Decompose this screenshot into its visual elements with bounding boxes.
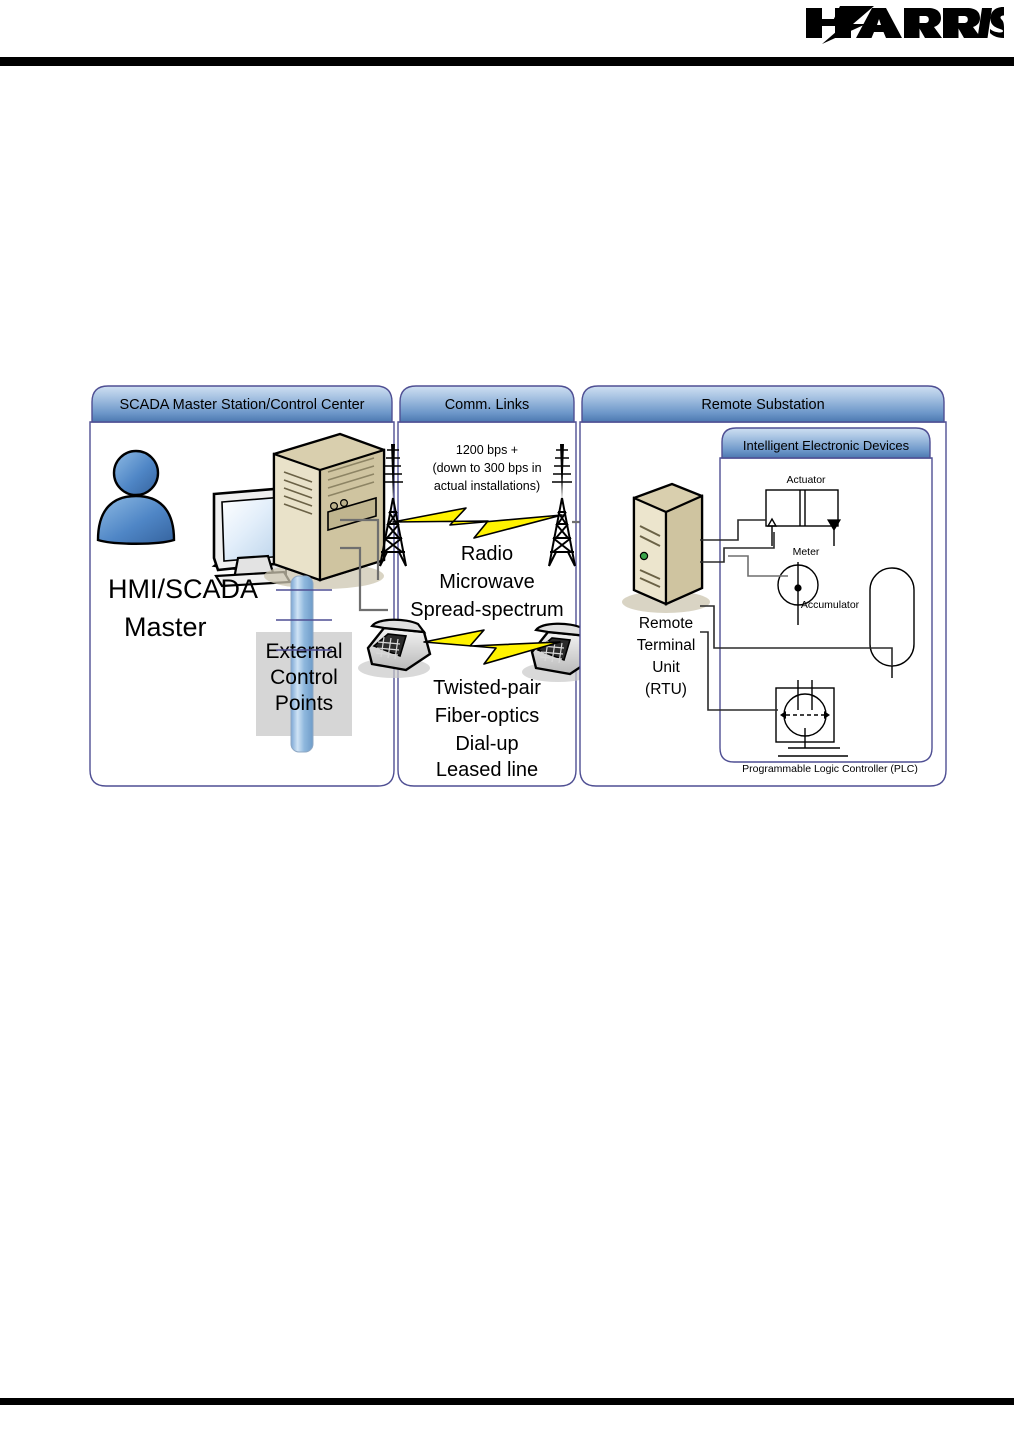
subpanel-ied-header: Intelligent Electronic Devices xyxy=(743,438,910,453)
rtu-label-line-2: Terminal xyxy=(637,637,696,654)
panel-comm-links-header: Comm. Links xyxy=(445,397,530,413)
wireline-label-line-2: Fiber-optics xyxy=(435,705,539,727)
comm-rate-note-line-1: 1200 bps + xyxy=(456,443,518,457)
rtu-label-line-1: Remote xyxy=(639,615,693,632)
plc-label: Programmable Logic Controller (PLC) xyxy=(742,763,918,775)
wireline-label-line-3: Dial-up xyxy=(455,733,518,755)
comm-rate-note-line-2: (down to 300 bps in xyxy=(432,461,541,475)
svg-text:®: ® xyxy=(996,9,1002,17)
external-control-points-line-2: Control xyxy=(270,666,338,689)
accumulator-label: Accumulator xyxy=(801,599,860,611)
wireless-label-line-2: Microwave xyxy=(439,571,535,593)
wireless-label-line-3: Spread-spectrum xyxy=(410,599,563,621)
footer-divider-rule xyxy=(0,1398,1014,1405)
harris-logo: ® xyxy=(804,4,1004,46)
comm-rate-note-line-3: actual installations) xyxy=(434,479,540,493)
wireless-label-line-1: Radio xyxy=(461,543,513,565)
panel-remote-substation-header: Remote Substation xyxy=(701,397,824,413)
external-control-points-line-1: External xyxy=(265,640,342,663)
meter-label: Meter xyxy=(793,546,820,558)
computer-tower-icon xyxy=(264,434,384,589)
document-page: ® xyxy=(0,0,1014,1430)
external-control-points-line-3: Points xyxy=(275,692,333,715)
actuator-label: Actuator xyxy=(786,474,826,486)
panel-scada-master-header: SCADA Master Station/Control Center xyxy=(120,397,365,413)
header-divider-rule xyxy=(0,57,1014,66)
hmi-scada-label-line-2: Master xyxy=(124,612,207,642)
wireline-label-line-4: Leased line xyxy=(436,759,538,781)
rtu-label-line-4: (RTU) xyxy=(645,681,687,698)
rtu-label-line-3: Unit xyxy=(652,659,680,676)
hmi-scada-label-line-1: HMI/SCADA xyxy=(108,574,258,604)
wireline-label-line-1: Twisted-pair xyxy=(433,677,541,699)
scada-architecture-diagram: SCADA Master Station/Control Center xyxy=(88,380,948,790)
